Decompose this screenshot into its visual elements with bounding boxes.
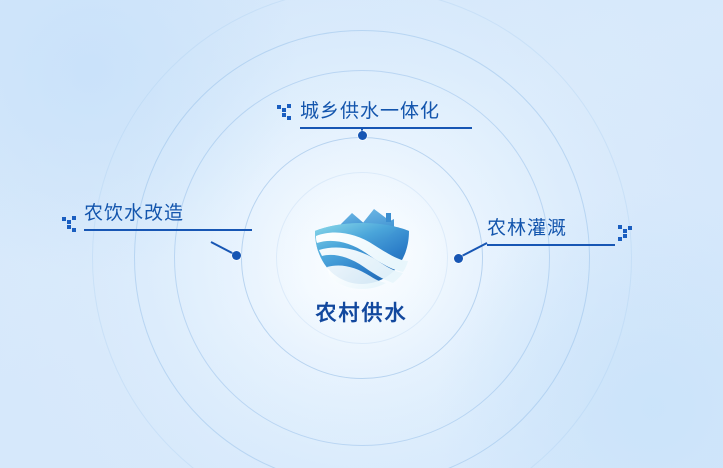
node-label-top-text: 城乡供水一体化 (277, 100, 472, 124)
node-label-left-rule (84, 229, 252, 231)
node-label-left[interactable]: 农饮水改造 (62, 202, 252, 231)
node-label-top[interactable]: 城乡供水一体化 (277, 100, 472, 129)
chevron-right-dotted-icon (277, 104, 293, 120)
center-node[interactable]: 农村供水 (267, 189, 457, 327)
chevron-left-dotted-icon (616, 225, 632, 241)
node-label-right-text: 农林灌溉 (487, 217, 615, 241)
chevron-right-dotted-icon (62, 216, 78, 232)
node-label-right[interactable]: 农林灌溉 (487, 217, 615, 246)
node-dot-left[interactable] (232, 251, 241, 260)
center-title: 农村供水 (267, 297, 457, 327)
water-village-logo-icon (308, 189, 416, 289)
infographic-canvas: 城乡供水一体化 农饮水改造 农林灌溉 (0, 0, 723, 468)
node-label-top-rule (300, 127, 472, 129)
node-label-right-rule (487, 244, 615, 246)
node-label-left-text: 农饮水改造 (62, 202, 252, 226)
node-dot-top[interactable] (358, 131, 367, 140)
